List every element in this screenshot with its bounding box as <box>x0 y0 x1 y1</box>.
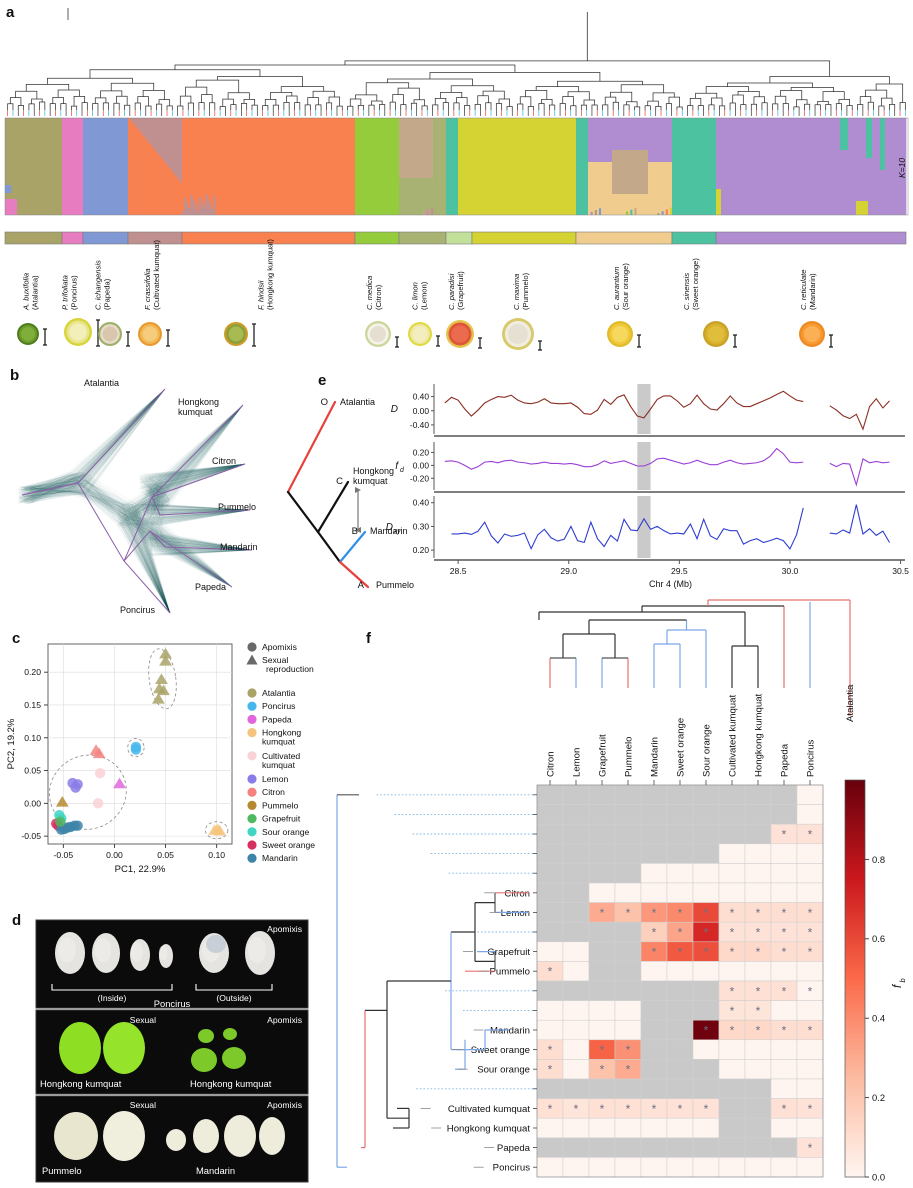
densitree-tip-label-2: kumquat <box>178 407 213 417</box>
track-1-ytick-0: 0.20 <box>413 447 430 457</box>
legend-color-label-6: Citron <box>262 787 285 797</box>
heatmap-cell-r8-c2 <box>589 942 615 962</box>
heatmap-cell-r0-c0 <box>537 785 563 805</box>
significance-star-r8-c6: * <box>704 945 709 959</box>
heatmap-cell-r4-c3 <box>615 863 641 883</box>
heatmap-cell-r11-c5 <box>667 1001 693 1021</box>
significance-star-r16-c6: * <box>704 1102 709 1116</box>
heatmap-cell-r18-c7 <box>719 1138 745 1158</box>
significance-star-r6-c3: * <box>626 906 631 920</box>
svg-text:xy: xy <box>393 528 401 535</box>
colorbar-gradient <box>845 780 865 1177</box>
heatmap-cell-r1-c7 <box>719 805 745 825</box>
species-strip-8 <box>472 232 576 244</box>
heatmap-cell-r1-c2 <box>589 805 615 825</box>
pca-xtick-3: 0.10 <box>208 850 225 860</box>
heatmap-col-label-0: Citron <box>546 751 557 777</box>
heatmap-cell-r1-c5 <box>667 805 693 825</box>
pca-ytick-5: 0.20 <box>24 667 41 677</box>
heatmap-cell-r14-c4 <box>641 1059 667 1079</box>
heatmap-cell-r18-c5 <box>667 1138 693 1158</box>
heatmap-cell-r5-c0 <box>537 883 563 903</box>
panel-e-xaxis: 28.529.029.530.030.5Chr 4 (Mb) <box>434 560 909 589</box>
heatmap-cell-r1-c3 <box>615 805 641 825</box>
heatmap-cell-r5-c4 <box>641 883 667 903</box>
heatmap-cell-r18-c8 <box>745 1138 771 1158</box>
heatmap-cell-r6-c0 <box>537 903 563 923</box>
legend-color-label-5: Lemon <box>262 774 288 784</box>
heatmap-cell-r9-c1 <box>563 961 589 981</box>
heatmap-cell-r13-c1 <box>563 1040 589 1060</box>
legend-color-marker-3 <box>247 728 256 737</box>
heatmap-cell-r0-c3 <box>615 785 641 805</box>
heatmap-cells: ****************************************… <box>537 785 823 1177</box>
photo-caption-outside: (Outside) <box>216 993 251 1003</box>
significance-star-r8-c10: * <box>808 945 813 959</box>
heatmap-col-label-8: Hongkong kumquat <box>754 693 765 777</box>
legend-shape-marker-1 <box>246 655 257 665</box>
heatmap-cell-r17-c8 <box>745 1118 771 1138</box>
densitree-tip-label-7: Poncirus <box>120 605 156 615</box>
legend-color-marker-2 <box>247 715 256 724</box>
legend-color-marker-7 <box>247 801 256 810</box>
heatmap-cell-r0-c7 <box>719 785 745 805</box>
photo-caption-mandarin: Mandarin <box>196 1165 235 1176</box>
heatmap-cell-r18-c0 <box>537 1138 563 1158</box>
significance-star-r7-c8: * <box>756 926 761 940</box>
heatmap-cell-r4-c5 <box>667 863 693 883</box>
heatmap-cell-r18-c3 <box>615 1138 641 1158</box>
heatmap-cell-r3-c4 <box>641 844 667 864</box>
legend-color-marker-0 <box>247 688 256 697</box>
track-2-ytick-1: 0.30 <box>413 521 430 531</box>
heatmap-row-label-5: Citron <box>504 888 530 899</box>
heatmap-cell-r12-c2 <box>589 1020 615 1040</box>
heatmap-cell-r12-c4 <box>641 1020 667 1040</box>
panel-e-xtick-3: 30.0 <box>782 566 799 576</box>
heatmap-cell-r11-c6 <box>693 1001 719 1021</box>
heatmap-cell-r7-c0 <box>537 922 563 942</box>
heatmap-cell-r18-c2 <box>589 1138 615 1158</box>
heatmap-cell-r3-c7 <box>719 844 745 864</box>
panel-e-xtick-0: 28.5 <box>450 566 467 576</box>
significance-star-r16-c10: * <box>808 1102 813 1116</box>
species-latin-6: C. limon <box>411 282 420 310</box>
significance-star-r6-c5: * <box>678 906 683 920</box>
species-labels: A. buxifolia(Atalantia)P. trifoliata(Pon… <box>22 239 818 311</box>
panel-c-pca-plot: -0.050.000.050.10-0.050.000.050.100.150.… <box>0 628 340 913</box>
densitree-tip-label-6: Papeda <box>195 582 226 592</box>
heatmap-cell-r15-c10 <box>797 1079 823 1099</box>
significance-star-r12-c10: * <box>808 1024 813 1038</box>
heatmap-cell-r4-c1 <box>563 863 589 883</box>
panel-e-xtick-4: 30.5 <box>892 566 909 576</box>
significance-star-r7-c6: * <box>704 926 709 940</box>
panel-e-tree: OAtalantiaCHongkongkumquatBMandarinAPumm… <box>288 397 414 591</box>
heatmap-col-label-3: Pummelo <box>624 736 635 777</box>
heatmap-cell-r10-c5 <box>667 981 693 1001</box>
tree-node-code-2: B <box>352 526 358 537</box>
heatmap-cell-r17-c3 <box>615 1118 641 1138</box>
significance-star-r8-c9: * <box>782 945 787 959</box>
significance-star-r8-c5: * <box>678 945 683 959</box>
heatmap-cell-r16-c8 <box>745 1099 771 1119</box>
photo-tag-apomixis-3: Apomixis <box>267 1100 302 1110</box>
heatmap-col-label-6: Sour orange <box>702 724 713 777</box>
significance-star-r16-c9: * <box>782 1102 787 1116</box>
significance-star-r6-c2: * <box>600 906 605 920</box>
species-latin-5: C. medica <box>365 276 374 310</box>
heatmap-cell-r4-c9 <box>771 863 797 883</box>
significance-star-r7-c5: * <box>678 926 683 940</box>
species-common-7: (Grapefruit) <box>456 271 465 310</box>
heatmap-cell-r1-c4 <box>641 805 667 825</box>
species-latin-11: C. reticulate <box>799 269 808 310</box>
track-name-2: D <box>386 522 393 533</box>
significance-star-r2-c9: * <box>782 828 787 842</box>
significance-star-r16-c0: * <box>548 1102 553 1116</box>
heatmap-row-label-8: Grapefruit <box>487 947 530 958</box>
track-0-ytick-0: 0.40 <box>413 392 430 402</box>
heatmap-cell-r18-c1 <box>563 1138 589 1158</box>
heatmap-col-labels: CitronLemonGrapefruitPummeloMandarinSwee… <box>546 693 817 785</box>
panel-d-seed-photos: (Inside)(Outside)PoncirusApomixisSexualA… <box>0 908 330 1188</box>
heatmap-cell-r13-c10 <box>797 1040 823 1060</box>
species-strip-9 <box>576 232 672 244</box>
heatmap-cell-r1-c8 <box>745 805 771 825</box>
pca-xtick-1: 0.00 <box>106 850 123 860</box>
pca-point-15 <box>70 782 80 792</box>
significance-star-r7-c7: * <box>730 926 735 940</box>
heatmap-cell-r0-c2 <box>589 785 615 805</box>
heatmap-cell-r11-c0 <box>537 1001 563 1021</box>
heatmap-cell-r5-c2 <box>589 883 615 903</box>
significance-star-r12-c6: * <box>704 1024 709 1038</box>
heatmap-cell-r17-c7 <box>719 1118 745 1138</box>
heatmap-cell-r5-c3 <box>615 883 641 903</box>
pca-xtick-2: 0.05 <box>157 850 174 860</box>
pca-plot-area: -0.050.000.050.10-0.050.000.050.100.150.… <box>6 644 232 875</box>
panel-d-letter: d <box>12 912 21 929</box>
track-2-ytick-2: 0.20 <box>413 545 430 555</box>
significance-star-r7-c4: * <box>652 926 657 940</box>
photo-caption-inside: (Inside) <box>98 993 127 1003</box>
heatmap-cell-r15-c6 <box>693 1079 719 1099</box>
species-common-3: (Cultivated kumquat) <box>152 239 161 310</box>
heatmap-cell-r18-c9 <box>771 1138 797 1158</box>
panel-d: d (Inside)(Outside)PoncirusApomixisSexua… <box>0 908 330 1188</box>
admixture-barplot <box>5 118 908 215</box>
species-strip-0 <box>5 232 62 244</box>
heatmap-cell-r18-c4 <box>641 1138 667 1158</box>
heatmap-cell-r2-c8 <box>745 824 771 844</box>
panel-e-xlabel: Chr 4 (Mb) <box>649 579 692 589</box>
legend-color-label-2: Papeda <box>262 714 292 724</box>
panel-d-photo-strips: (Inside)(Outside)PoncirusApomixisSexualA… <box>36 920 308 1182</box>
heatmap-cell-r19-c10 <box>797 1157 823 1177</box>
heatmap-cell-r13-c9 <box>771 1040 797 1060</box>
heatmap-cell-r10-c6 <box>693 981 719 1001</box>
panel-e-xtick-2: 29.5 <box>671 566 688 576</box>
heatmap-col-label-9: Papeda <box>780 743 791 777</box>
panel-b-letter: b <box>10 367 19 384</box>
heatmap-cell-r0-c6 <box>693 785 719 805</box>
species-common-1: (Poncirus) <box>70 275 79 310</box>
heatmap-cell-r15-c5 <box>667 1079 693 1099</box>
species-latin-9: C. aurantium <box>612 267 621 310</box>
significance-star-r12-c7: * <box>730 1024 735 1038</box>
heatmap-col-label-4: Mandarin <box>650 737 661 777</box>
heatmap-cell-r3-c6 <box>693 844 719 864</box>
track-1-ytick-1: 0.00 <box>413 460 430 470</box>
heatmap-cell-r6-c1 <box>563 903 589 923</box>
significance-star-r2-c10: * <box>808 828 813 842</box>
pca-ytick-1: 0.00 <box>24 798 41 808</box>
heatmap-cell-r19-c4 <box>641 1157 667 1177</box>
species-common-2: (Papeda) <box>103 278 112 310</box>
heatmap-colorbar: 0.00.20.40.60.8fb <box>845 780 907 1182</box>
k-label: K=10 <box>897 158 907 178</box>
heatmap-cell-r16-c7 <box>719 1099 745 1119</box>
heatmap-cell-r11-c10 <box>797 1001 823 1021</box>
species-strip-6 <box>399 232 446 244</box>
pca-point-11 <box>95 768 105 778</box>
heatmap-cell-r19-c9 <box>771 1157 797 1177</box>
svg-text:kumquat: kumquat <box>353 476 388 486</box>
svg-text:kumquat: kumquat <box>262 737 296 747</box>
photo-tag-apomixis-1: Apomixis <box>267 924 302 934</box>
species-color-strip <box>5 232 906 244</box>
pca-xtick-0: -0.05 <box>54 850 74 860</box>
legend-color-label-8: Grapefruit <box>262 814 301 824</box>
heatmap-cell-r3-c5 <box>667 844 693 864</box>
species-common-5: (Citron) <box>374 284 383 310</box>
species-common-0: (Atalantia) <box>31 275 40 310</box>
heatmap-cell-r4-c0 <box>537 863 563 883</box>
significance-star-r7-c10: * <box>808 926 813 940</box>
panel-e-track-D: 0.400.00-0.40D <box>391 384 905 436</box>
heatmap-cell-r13-c8 <box>745 1040 771 1060</box>
track-1-ytick-2: -0.20 <box>410 473 429 483</box>
species-strip-7 <box>446 232 472 244</box>
heatmap-cell-r5-c10 <box>797 883 823 903</box>
panel-e-track-D_xy: 0.400.300.20Dxy <box>386 496 890 558</box>
significance-star-r7-c9: * <box>782 926 787 940</box>
heatmap-row-label-16: Cultivated kumquat <box>448 1104 530 1115</box>
legend-color-marker-10 <box>247 840 256 849</box>
heatmap-cell-r19-c8 <box>745 1157 771 1177</box>
heatmap-cell-r15-c4 <box>641 1079 667 1099</box>
heatmap-cell-r14-c10 <box>797 1059 823 1079</box>
heatmap-cell-r2-c1 <box>563 824 589 844</box>
heatmap-cell-r0-c8 <box>745 785 771 805</box>
heatmap-cell-r19-c2 <box>589 1157 615 1177</box>
pca-point-27 <box>55 817 65 827</box>
heatmap-cell-r4-c7 <box>719 863 745 883</box>
pca-xlabel: PC1, 22.9% <box>115 864 166 875</box>
species-strip-1 <box>62 232 83 244</box>
significance-star-r14-c0: * <box>548 1063 553 1077</box>
pca-ylabel: PC2, 19.2% <box>6 718 17 769</box>
species-strip-2 <box>83 232 128 244</box>
significance-star-r6-c7: * <box>730 906 735 920</box>
species-latin-1: P. trifoliata <box>61 275 70 310</box>
significance-star-r13-c3: * <box>626 1043 631 1057</box>
pca-legend: ApomixisSexualreproductionAtalantiaPonci… <box>246 642 315 863</box>
heatmap-cell-r13-c7 <box>719 1040 745 1060</box>
heatmap-cell-r19-c0 <box>537 1157 563 1177</box>
legend-color-label-9: Sour orange <box>262 827 310 837</box>
significance-star-r11-c8: * <box>756 1004 761 1018</box>
significance-star-r6-c8: * <box>756 906 761 920</box>
species-latin-0: A. buxifolia <box>22 273 31 311</box>
photo-caption-pummelo: Pummelo <box>42 1165 82 1176</box>
heatmap-cell-r2-c6 <box>693 824 719 844</box>
track-2-ytick-0: 0.40 <box>413 498 430 508</box>
species-latin-3: F. crassifolia <box>143 268 152 310</box>
pca-ytick-0: -0.05 <box>21 831 41 841</box>
heatmap-col-dendrogram: Atalantia <box>539 600 856 722</box>
heatmap-cell-r10-c1 <box>563 981 589 1001</box>
heatmap-cell-r12-c0 <box>537 1020 563 1040</box>
legend-color-label-7: Pummelo <box>262 800 299 810</box>
heatmap-cell-r15-c1 <box>563 1079 589 1099</box>
significance-star-r10-c9: * <box>782 984 787 998</box>
heatmap-cell-r11-c2 <box>589 1001 615 1021</box>
heatmap-cell-r0-c5 <box>667 785 693 805</box>
significance-star-r16-c2: * <box>600 1102 605 1116</box>
species-strip-10 <box>672 232 716 244</box>
legend-color-marker-5 <box>247 774 256 783</box>
heatmap-cell-r14-c9 <box>771 1059 797 1079</box>
heatmap-cell-r10-c0 <box>537 981 563 1001</box>
legend-color-label-10: Sweet orange <box>262 840 315 850</box>
heatmap-cell-r7-c3 <box>615 922 641 942</box>
heatmap-cell-r9-c6 <box>693 961 719 981</box>
pca-ytick-2: 0.05 <box>24 766 41 776</box>
species-common-10: (Sweet orange) <box>691 258 700 310</box>
heatmap-cell-r13-c4 <box>641 1040 667 1060</box>
heatmap-cell-r15-c7 <box>719 1079 745 1099</box>
heatmap-cell-r4-c2 <box>589 863 615 883</box>
panel-c: c -0.050.000.050.10-0.050.000.050.100.15… <box>0 628 340 913</box>
species-common-4: (Hongkong kumquat) <box>266 239 275 310</box>
heatmap-cell-r17-c0 <box>537 1118 563 1138</box>
heatmap-cell-r19-c1 <box>563 1157 589 1177</box>
heatmap-cell-r1-c0 <box>537 805 563 825</box>
heatmap-cell-r1-c1 <box>563 805 589 825</box>
heatmap-cell-r19-c6 <box>693 1157 719 1177</box>
heatmap-cell-r7-c1 <box>563 922 589 942</box>
heatmap-cell-r15-c8 <box>745 1079 771 1099</box>
panel-e-xtick-1: 29.0 <box>560 566 577 576</box>
track-name-1: f <box>395 461 399 472</box>
heatmap-col-label-2: Grapefruit <box>598 734 609 777</box>
heatmap-cell-r4-c6 <box>693 863 719 883</box>
legend-color-marker-1 <box>247 702 256 711</box>
significance-star-r18-c10: * <box>808 1141 813 1155</box>
significance-star-r14-c3: * <box>626 1063 631 1077</box>
heatmap-cell-r13-c6 <box>693 1040 719 1060</box>
heatmap-cell-r5-c9 <box>771 883 797 903</box>
significance-star-r6-c6: * <box>704 906 709 920</box>
heatmap-row-label-6: Lemon <box>501 908 530 919</box>
heatmap-cell-r12-c5 <box>667 1020 693 1040</box>
heatmap-cell-r9-c3 <box>615 961 641 981</box>
pca-point-7 <box>131 744 141 754</box>
significance-star-r13-c2: * <box>600 1043 605 1057</box>
panel-a-dendrogram <box>8 8 906 116</box>
track-0-ytick-1: 0.00 <box>413 406 430 416</box>
heatmap-cell-r17-c4 <box>641 1118 667 1138</box>
heatmap-cell-r3-c0 <box>537 844 563 864</box>
panel-a: a K=10A. buxifolia(Atalantia)P. trifolia… <box>0 0 913 365</box>
heatmap-cell-r3-c8 <box>745 844 771 864</box>
tree-node-label-0: Atalantia <box>340 397 375 407</box>
highlight-band-0 <box>637 384 650 434</box>
heatmap-cell-r14-c5 <box>667 1059 693 1079</box>
heatmap-row-labels: CitronLemonGrapefruitPummeloMandarinSwee… <box>447 795 537 1174</box>
heatmap-cell-r4-c8 <box>745 863 771 883</box>
tree-node-label-1: Hongkong <box>353 466 394 476</box>
photo-tag-apomixis-2: Apomixis <box>267 1015 302 1025</box>
heatmap-col-label-10: Poncirus <box>806 739 817 777</box>
heatmap-row-label-13: Sweet orange <box>471 1045 530 1056</box>
heatmap-cell-r0-c10 <box>797 785 823 805</box>
heatmap-cell-r9-c9 <box>771 961 797 981</box>
heatmap-cell-r15-c9 <box>771 1079 797 1099</box>
heatmap-cell-r8-c3 <box>615 942 641 962</box>
pca-ytick-4: 0.15 <box>24 700 41 710</box>
significance-star-r14-c2: * <box>600 1063 605 1077</box>
heatmap-cell-r5-c8 <box>745 883 771 903</box>
tree-node-code-1: C <box>336 476 343 487</box>
significance-star-r8-c4: * <box>652 945 657 959</box>
heatmap-cell-r5-c6 <box>693 883 719 903</box>
heatmap-cell-r13-c5 <box>667 1040 693 1060</box>
panel-e-track-f_d: 0.200.00-0.20fd <box>395 442 905 492</box>
panel-a-graphic: K=10A. buxifolia(Atalantia)P. trifoliata… <box>0 0 913 365</box>
heatmap-cell-r4-c10 <box>797 863 823 883</box>
photo-caption-poncirus: Poncirus <box>154 998 191 1009</box>
fruit-photos <box>17 318 833 350</box>
heatmap-outgroup-label: Atalantia <box>845 684 856 722</box>
heatmap-cell-r5-c7 <box>719 883 745 903</box>
heatmap-cell-r10-c3 <box>615 981 641 1001</box>
heatmap-cell-r2-c7 <box>719 824 745 844</box>
heatmap-row-label-19: Poncirus <box>493 1163 531 1174</box>
panel-f: f **************************************… <box>330 598 913 1188</box>
significance-star-r6-c10: * <box>808 906 813 920</box>
heatmap-cell-r17-c2 <box>589 1118 615 1138</box>
significance-star-r10-c7: * <box>730 984 735 998</box>
significance-star-r16-c1: * <box>574 1102 579 1116</box>
significance-star-r8-c7: * <box>730 945 735 959</box>
heatmap-cell-r1-c9 <box>771 805 797 825</box>
heatmap-col-label-1: Lemon <box>572 748 583 777</box>
heatmap-cell-r0-c9 <box>771 785 797 805</box>
significance-star-r10-c10: * <box>808 984 813 998</box>
heatmap-cell-r4-c4 <box>641 863 667 883</box>
panel-c-letter: c <box>12 630 20 647</box>
heatmap-cell-r5-c1 <box>563 883 589 903</box>
track-name-0: D <box>391 404 398 415</box>
heatmap-row-label-18: Papeda <box>497 1143 531 1154</box>
heatmap-cell-r10-c2 <box>589 981 615 1001</box>
heatmap-cell-r2-c5 <box>667 824 693 844</box>
heatmap-cell-r9-c10 <box>797 961 823 981</box>
significance-star-r6-c4: * <box>652 906 657 920</box>
